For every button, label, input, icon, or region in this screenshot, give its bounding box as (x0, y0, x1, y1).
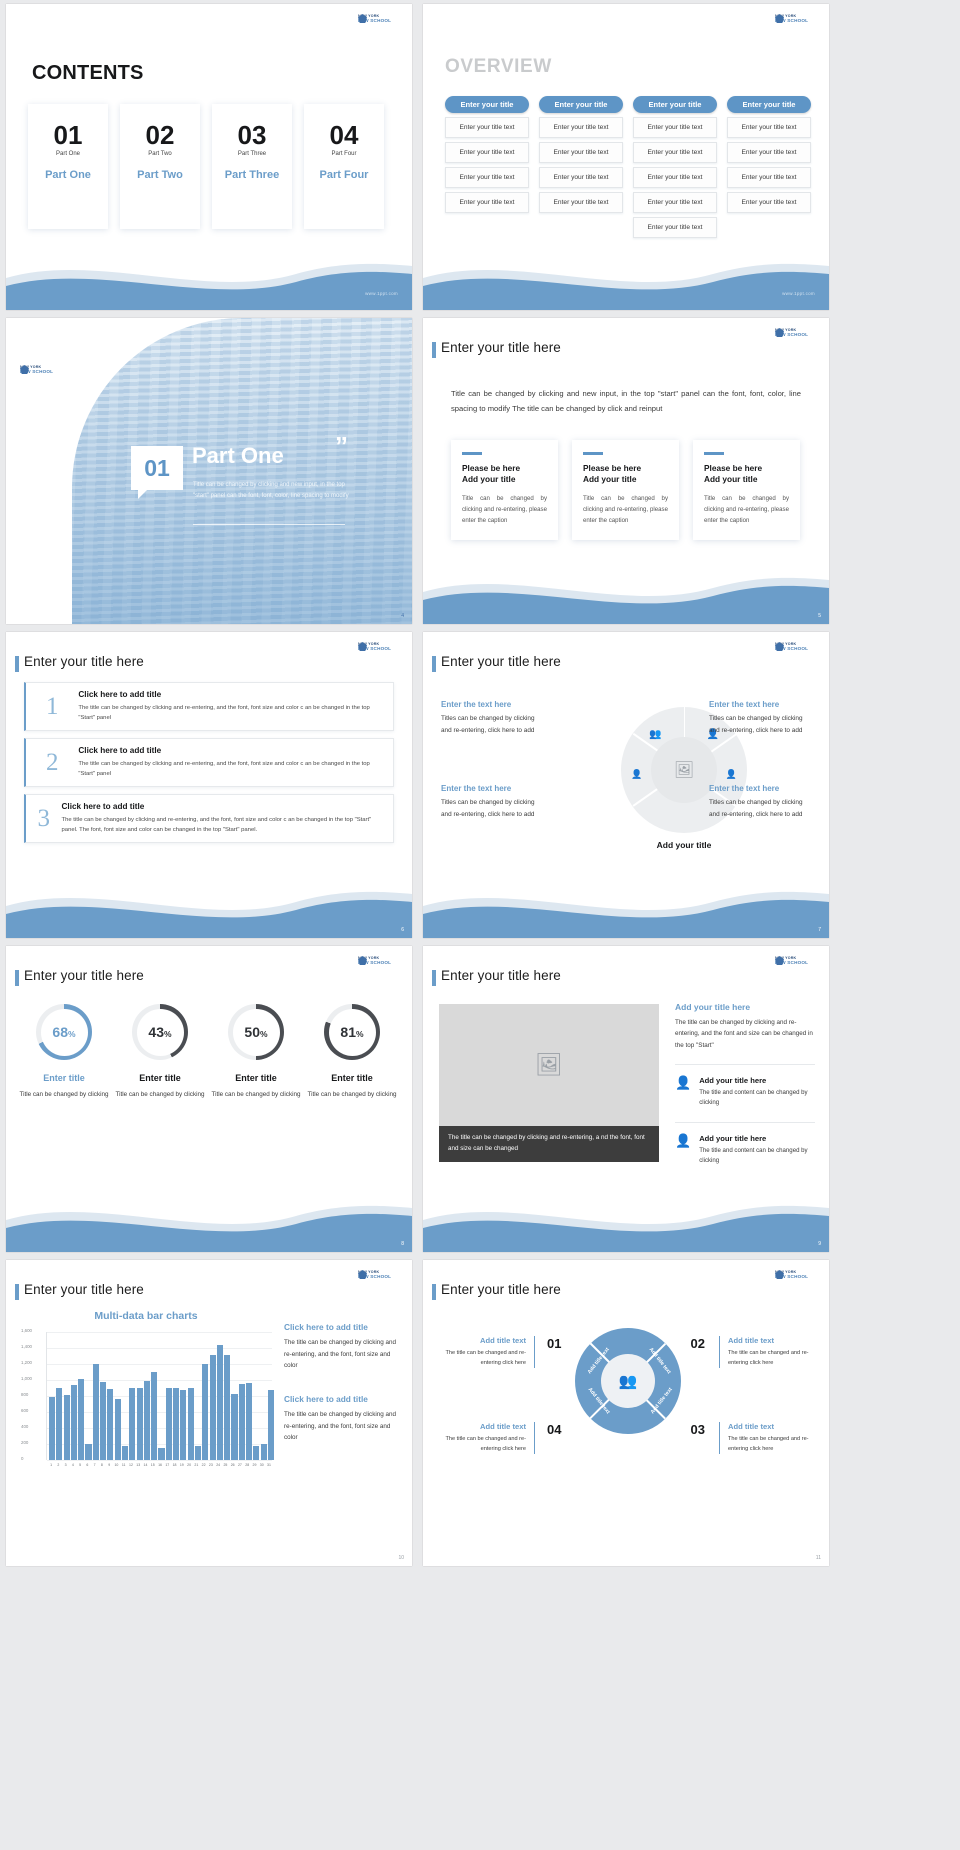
diagram-caption: Add your title (621, 840, 747, 850)
diagram-text-block: Enter the text here Titles can be change… (441, 784, 545, 821)
person-icon: 👤 (675, 1076, 691, 1109)
card-part: Part One (45, 169, 91, 181)
page-title: Enter your title here (441, 968, 561, 983)
page-title: Enter your title here (441, 1282, 561, 1297)
item-title: Click here to add title (62, 802, 383, 811)
person-icon: 👤 (675, 1134, 691, 1167)
chart-bar (217, 1345, 223, 1460)
cycle-number: 03 (691, 1422, 705, 1437)
side-list-item[interactable]: 👤 Add your title here The title and cont… (675, 1122, 815, 1167)
contents-cards: 01 Part One Part One 02 Part Two Part Tw… (28, 104, 384, 229)
side-heading: Click here to add title (284, 1322, 402, 1332)
brand-logo: NEW YORK LAW SCHOOL (358, 13, 400, 26)
cover-body: Title can be changed by clicking and new… (193, 480, 353, 501)
item-title: Click here to add title (78, 690, 383, 699)
cycle-text-block: Add title text The title can be changed … (719, 1422, 811, 1454)
cover-photo (72, 318, 412, 624)
chart-y-tick-label: 400 (21, 1424, 28, 1429)
cover-number-badge: 01 (131, 446, 183, 490)
card-subtitle: Part Four (331, 151, 356, 157)
donut-body: Title can be changed by clicking (112, 1090, 208, 1101)
info-card[interactable]: Please be here Add your title Title can … (693, 440, 800, 540)
page-title: Enter your title here (441, 340, 561, 355)
accent-bar (583, 452, 603, 455)
wave-decoration (423, 876, 829, 938)
overview-column: Enter your title Enter your title text E… (443, 96, 531, 238)
donut-title: Enter title (208, 1073, 304, 1083)
chart-bar (85, 1444, 91, 1460)
side-item-body: The title and content can be changed by … (699, 1088, 815, 1109)
bar-chart: Multi-data bar charts 02004006008001,000… (20, 1310, 272, 1488)
overview-cell[interactable]: Enter your title text (539, 192, 623, 213)
brand-logo: NEW YORK LAW SCHOOL (20, 364, 62, 377)
slide-contents[interactable]: NEW YORK LAW SCHOOL CONTENTS 01 Part One… (6, 4, 412, 310)
card-number: 04 (330, 122, 359, 148)
page-number: 6 (401, 927, 404, 933)
donut-value: 43% (148, 1025, 171, 1039)
block-heading: Enter the text here (441, 784, 545, 793)
lead-paragraph: Title can be changed by clicking and new… (451, 386, 801, 416)
block-heading: Add title text (728, 1336, 811, 1345)
side-body: The title can be changed by clicking and… (675, 1017, 815, 1051)
card-title-line2: Add your title (462, 474, 547, 485)
info-card[interactable]: Please be here Add your title Title can … (572, 440, 679, 540)
overview-cell[interactable]: Enter your title text (727, 117, 811, 138)
donut-chart: 81% (324, 1004, 380, 1060)
chart-bar (188, 1388, 194, 1460)
quote-mark-icon: ” (335, 436, 348, 457)
card-number: 03 (238, 122, 267, 148)
page-number: 5 (818, 613, 821, 619)
chart-x-tick-label: 18 (172, 1463, 178, 1467)
item-number: 2 (26, 750, 78, 775)
donut-chart: 68% (36, 1004, 92, 1060)
donut-item[interactable]: 50% Enter title Title can be changed by … (208, 1004, 304, 1101)
card-body: Title can be changed by clicking and re-… (704, 494, 789, 526)
side-item-body: The title and content can be changed by … (699, 1146, 815, 1167)
block-heading: Add title text (443, 1336, 526, 1345)
card-part: Part Two (137, 169, 183, 181)
logo-line2: LAW SCHOOL (775, 19, 817, 24)
block-heading: Add title text (443, 1422, 526, 1431)
chart-bar (122, 1446, 128, 1460)
block-body: Titles can be changed by clicking and re… (441, 797, 545, 821)
cycle-number: 04 (547, 1422, 561, 1437)
chart-bar (93, 1364, 99, 1460)
block-body: The title can be changed and re-entering… (728, 1349, 811, 1368)
card-body: Title can be changed by clicking and re-… (462, 494, 547, 526)
overview-cell[interactable]: Enter your title text (539, 167, 623, 188)
chart-x-tick-label: 22 (201, 1463, 207, 1467)
side-heading: Click here to add title (284, 1394, 402, 1404)
chart-x-tick-label: 10 (113, 1463, 119, 1467)
donut-item[interactable]: 68% Enter title Title can be changed by … (16, 1004, 112, 1101)
chart-bar (180, 1390, 186, 1460)
cycle-text-block: Add title text The title can be changed … (443, 1422, 535, 1454)
card-body: Title can be changed by clicking and re-… (583, 494, 668, 526)
chart-x-tick-label: 13 (135, 1463, 141, 1467)
slide-bar-chart[interactable]: NEW YORK LAW SCHOOL Enter your title her… (6, 1260, 412, 1566)
chart-bars (49, 1332, 274, 1460)
side-item-title: Add your title here (699, 1134, 815, 1143)
wave-decoration (423, 1190, 829, 1252)
overview-cell[interactable]: Enter your title text (633, 117, 717, 138)
slide-circle-diagram[interactable]: NEW YORK LAW SCHOOL Enter your title her… (423, 632, 829, 938)
chart-title: Multi-data bar charts (20, 1310, 272, 1322)
person-desk-icon: 👤 (726, 769, 737, 780)
people-group-icon: 👥 (619, 1372, 638, 1390)
wave-decoration (6, 248, 412, 310)
donut-item[interactable]: 43% Enter title Title can be changed by … (112, 1004, 208, 1101)
overview-column: Enter your title Enter your title text E… (537, 96, 625, 238)
cycle-center[interactable]: 👥 (601, 1354, 655, 1408)
chart-x-tick-label: 5 (77, 1463, 83, 1467)
overview-grid: Enter your title Enter your title text E… (443, 96, 813, 238)
page-number: 10 (398, 1555, 404, 1561)
chart-y-tick-label: 600 (21, 1408, 28, 1413)
block-body: The title can be changed and re-entering… (443, 1435, 526, 1454)
brand-logo: NEW YORK LAW SCHOOL (358, 955, 400, 968)
side-item-title: Add your title here (699, 1076, 815, 1085)
chart-bar (268, 1390, 274, 1460)
overview-cell[interactable]: Enter your title text (539, 117, 623, 138)
cycle-ring: Add title text Add title text Add title … (575, 1328, 681, 1434)
chart-x-tick-label: 1 (48, 1463, 54, 1467)
overview-cell[interactable]: Enter your title text (633, 142, 717, 163)
chart-x-tick-label: 24 (215, 1463, 221, 1467)
overview-pill[interactable]: Enter your title (539, 96, 623, 113)
slide-image-and-list[interactable]: NEW YORK LAW SCHOOL Enter your title her… (423, 946, 829, 1252)
accent-bar (462, 452, 482, 455)
wave-decoration (423, 248, 829, 310)
donut-item[interactable]: 81% Enter title Title can be changed by … (304, 1004, 400, 1101)
chart-x-tick-label: 29 (251, 1463, 257, 1467)
chart-bar (224, 1355, 230, 1460)
contents-card[interactable]: 04 Part Four Part Four (304, 104, 384, 229)
donut-value: 81% (340, 1025, 363, 1039)
logo-line2: LAW SCHOOL (358, 1275, 400, 1280)
side-body: The title can be changed by clicking and… (284, 1409, 402, 1444)
item-body: The title can be changed by clicking and… (78, 703, 383, 723)
item-number: 3 (26, 806, 62, 831)
overview-cell[interactable]: Enter your title text (445, 167, 529, 188)
donut-value: 68% (52, 1025, 75, 1039)
list-item[interactable]: 2 Click here to add title The title can … (24, 738, 394, 787)
chart-y-tick-label: 1,000 (21, 1376, 32, 1381)
chart-bar (158, 1448, 164, 1460)
overview-column: Enter your title Enter your title text E… (631, 96, 719, 238)
card-title-line1: Please be here (583, 463, 668, 474)
image-placeholder[interactable]: 🖼 (439, 1004, 659, 1126)
block-body: The title can be changed and re-entering… (728, 1435, 811, 1454)
chart-x-tick-label: 8 (99, 1463, 105, 1467)
block-heading: Enter the text here (709, 784, 813, 793)
page-number: 8 (401, 1241, 404, 1247)
overview-cell[interactable]: Enter your title text (727, 167, 811, 188)
chart-x-axis-labels: 1234567891011121314151617181920212223242… (48, 1460, 272, 1467)
donut-body: Title can be changed by clicking (208, 1090, 304, 1101)
card-title-line1: Please be here (704, 463, 789, 474)
card-title-line1: Please be here (462, 463, 547, 474)
card-title-line2: Add your title (583, 474, 668, 485)
chart-bar (144, 1381, 150, 1460)
chart-gridline: 0 (47, 1460, 272, 1461)
chart-bar (173, 1388, 179, 1460)
chart-x-tick-label: 3 (63, 1463, 69, 1467)
chart-bar (261, 1444, 267, 1460)
brand-logo: NEW YORK LAW SCHOOL (775, 1269, 817, 1282)
chart-y-tick-label: 1,600 (21, 1328, 32, 1333)
chart-x-tick-label: 26 (230, 1463, 236, 1467)
contents-heading: CONTENTS (32, 62, 144, 85)
chart-x-tick-label: 11 (121, 1463, 127, 1467)
logo-line2: LAW SCHOOL (775, 961, 817, 966)
page-title: Enter your title here (24, 968, 144, 983)
card-subtitle: Part Three (238, 151, 266, 157)
donut-body: Title can be changed by clicking (304, 1090, 400, 1101)
chart-x-tick-label: 14 (142, 1463, 148, 1467)
wave-decoration (423, 562, 829, 624)
diagram-text-block: Enter the text here Titles can be change… (709, 784, 813, 821)
slide-cycle-diagram[interactable]: NEW YORK LAW SCHOOL Enter your title her… (423, 1260, 829, 1566)
overview-cell[interactable]: Enter your title text (633, 192, 717, 213)
ring-center[interactable]: 🖼 (651, 737, 717, 803)
chart-bar (239, 1384, 245, 1460)
image-placeholder-icon: 🖼 (535, 1052, 563, 1078)
chart-x-tick-label: 23 (208, 1463, 214, 1467)
chart-bar (64, 1395, 70, 1460)
page-number: 11 (816, 1555, 821, 1561)
chart-bar (71, 1385, 77, 1460)
diagram-text-block: Enter the text here Titles can be change… (709, 700, 813, 737)
card-part: Part Four (320, 169, 369, 181)
logo-line2: LAW SCHOOL (358, 19, 400, 24)
list-item[interactable]: 3 Click here to add title The title can … (24, 794, 394, 843)
block-heading: Enter the text here (441, 700, 545, 709)
side-body: The title can be changed by clicking and… (284, 1337, 402, 1372)
list-container: 1 Click here to add title The title can … (24, 682, 394, 850)
overview-pill[interactable]: Enter your title (633, 96, 717, 113)
chart-bar (129, 1388, 135, 1460)
overview-pill[interactable]: Enter your title (445, 96, 529, 113)
donut-chart: 50% (228, 1004, 284, 1060)
logo-line2: LAW SCHOOL (358, 961, 400, 966)
chart-bar (137, 1388, 143, 1460)
slide-part-one-cover[interactable]: NEW YORK LAW SCHOOL 01 Part One ” Title … (6, 318, 412, 624)
chart-side-panel: Click here to add title The title can be… (284, 1322, 402, 1444)
chart-bar (210, 1355, 216, 1460)
item-title: Click here to add title (78, 746, 383, 755)
brand-logo: NEW YORK LAW SCHOOL (775, 641, 817, 654)
logo-line2: LAW SCHOOL (775, 647, 817, 652)
slide-overview[interactable]: NEW YORK LAW SCHOOL OVERVIEW Enter your … (423, 4, 829, 310)
contents-card[interactable]: 02 Part Two Part Two (120, 104, 200, 229)
logo-line2: LAW SCHOOL (358, 647, 400, 652)
chart-plot-area: 02004006008001,0001,2001,4001,600 (46, 1332, 272, 1460)
donut-value: 50% (244, 1025, 267, 1039)
chart-y-tick-label: 1,400 (21, 1344, 32, 1349)
page-title: Enter your title here (24, 1282, 144, 1297)
chart-bar (100, 1382, 106, 1460)
chart-bar (49, 1397, 55, 1460)
chart-x-tick-label: 6 (84, 1463, 90, 1467)
image-placeholder-icon: 🖼 (674, 760, 694, 780)
chart-bar (231, 1394, 237, 1460)
chart-bar (202, 1364, 208, 1460)
slide-three-cards[interactable]: NEW YORK LAW SCHOOL Enter your title her… (423, 318, 829, 624)
block-body: The title can be changed and re-entering… (443, 1349, 526, 1368)
brand-logo: NEW YORK LAW SCHOOL (775, 955, 817, 968)
overview-cell[interactable]: Enter your title text (445, 192, 529, 213)
block-heading: Add title text (728, 1422, 811, 1431)
block-body: Titles can be changed by clicking and re… (709, 713, 813, 737)
chart-y-tick-label: 200 (21, 1440, 28, 1445)
wave-decoration (6, 1190, 412, 1252)
page-number: 4 (401, 613, 404, 619)
chart-x-tick-label: 15 (150, 1463, 156, 1467)
chart-bar (78, 1379, 84, 1460)
donut-chart: 43% (132, 1004, 188, 1060)
slide-numbered-list[interactable]: NEW YORK LAW SCHOOL Enter your title her… (6, 632, 412, 938)
chart-bar (151, 1372, 157, 1460)
list-item[interactable]: 1 Click here to add title The title can … (24, 682, 394, 731)
chart-x-tick-label: 21 (193, 1463, 199, 1467)
chart-x-tick-label: 19 (179, 1463, 185, 1467)
card-subtitle: Part One (56, 151, 80, 157)
chart-x-tick-label: 2 (55, 1463, 61, 1467)
page-number: 9 (818, 1241, 821, 1247)
cover-divider (193, 524, 345, 525)
overview-cell[interactable]: Enter your title text (727, 142, 811, 163)
chart-bar (166, 1388, 172, 1460)
slide-percent-donuts[interactable]: NEW YORK LAW SCHOOL Enter your title her… (6, 946, 412, 1252)
footer-url: www.1ppt.com (365, 291, 398, 296)
overview-cell[interactable]: Enter your title text (445, 117, 529, 138)
chart-y-tick-label: 0 (21, 1456, 23, 1461)
brand-logo: NEW YORK LAW SCHOOL (775, 327, 817, 340)
page-title: Enter your title here (441, 654, 561, 669)
cover-title: Part One (192, 443, 284, 469)
card-part: Part Three (225, 169, 279, 181)
accent-bar (704, 452, 724, 455)
cycle-number: 01 (547, 1336, 561, 1351)
image-caption: The title can be changed by clicking and… (439, 1126, 659, 1162)
chart-x-tick-label: 31 (266, 1463, 272, 1467)
contents-card[interactable]: 03 Part Three Part Three (212, 104, 292, 229)
donut-title: Enter title (16, 1073, 112, 1083)
chart-x-tick-label: 12 (128, 1463, 134, 1467)
item-number: 1 (26, 694, 78, 719)
chart-x-tick-label: 16 (157, 1463, 163, 1467)
footer-url: www.1ppt.com (782, 291, 815, 296)
chart-x-tick-label: 20 (186, 1463, 192, 1467)
brand-logo: NEW YORK LAW SCHOOL (775, 13, 817, 26)
chart-y-tick-label: 1,200 (21, 1360, 32, 1365)
chart-bar (56, 1388, 62, 1460)
page-number: 7 (818, 927, 821, 933)
block-body: Titles can be changed by clicking and re… (709, 797, 813, 821)
chart-x-tick-label: 17 (164, 1463, 170, 1467)
person-circle-icon: 👤 (631, 769, 642, 780)
info-card[interactable]: Please be here Add your title Title can … (451, 440, 558, 540)
overview-pill[interactable]: Enter your title (727, 96, 811, 113)
chart-x-tick-label: 7 (92, 1463, 98, 1467)
block-heading: Enter the text here (709, 700, 813, 709)
overview-cell[interactable]: Enter your title text (539, 142, 623, 163)
overview-cell[interactable]: Enter your title text (633, 167, 717, 188)
card-subtitle: Part Two (148, 151, 172, 157)
page-title: Enter your title here (24, 654, 144, 669)
donut-title: Enter title (304, 1073, 400, 1083)
logo-line2: LAW SCHOOL (20, 370, 62, 375)
logo-line2: LAW SCHOOL (775, 1275, 817, 1280)
card-number: 02 (146, 122, 175, 148)
brand-logo: NEW YORK LAW SCHOOL (358, 641, 400, 654)
overview-column: Enter your title Enter your title text E… (725, 96, 813, 238)
donut-group: 68% Enter title Title can be changed by … (16, 1004, 400, 1101)
side-panel: Add your title here The title can be cha… (675, 1002, 815, 1166)
card-number: 01 (54, 122, 83, 148)
side-heading: Add your title here (675, 1002, 815, 1012)
slide-deck: NEW YORK LAW SCHOOL CONTENTS 01 Part One… (0, 0, 960, 1570)
overview-cell[interactable]: Enter your title text (445, 142, 529, 163)
donut-title: Enter title (112, 1073, 208, 1083)
diagram-text-block: Enter the text here Titles can be change… (441, 700, 545, 737)
contents-card[interactable]: 01 Part One Part One (28, 104, 108, 229)
item-body: The title can be changed by clicking and… (62, 815, 383, 835)
cycle-text-block: Add title text The title can be changed … (719, 1336, 811, 1368)
cycle-number: 02 (691, 1336, 705, 1351)
chart-x-tick-label: 25 (222, 1463, 228, 1467)
chart-x-tick-label: 9 (106, 1463, 112, 1467)
chart-bar (253, 1446, 259, 1460)
chart-x-tick-label: 30 (259, 1463, 265, 1467)
overview-cell[interactable]: Enter your title text (727, 192, 811, 213)
chart-bar (107, 1389, 113, 1460)
logo-line2: LAW SCHOOL (775, 333, 817, 338)
chart-x-tick-label: 4 (70, 1463, 76, 1467)
card-title-line2: Add your title (704, 474, 789, 485)
chart-bar (246, 1383, 252, 1460)
chart-bar (195, 1446, 201, 1460)
chart-y-tick-label: 800 (21, 1392, 28, 1397)
overview-cell[interactable]: Enter your title text (633, 217, 717, 238)
overview-heading: OVERVIEW (445, 56, 552, 78)
chart-x-tick-label: 27 (237, 1463, 243, 1467)
chart-bar (115, 1399, 121, 1460)
wave-decoration (6, 876, 412, 938)
donut-body: Title can be changed by clicking (16, 1090, 112, 1101)
side-list-item[interactable]: 👤 Add your title here The title and cont… (675, 1064, 815, 1109)
item-body: The title can be changed by clicking and… (78, 759, 383, 779)
brand-logo: NEW YORK LAW SCHOOL (358, 1269, 400, 1282)
people-group-icon: 👥 (649, 729, 661, 740)
cycle-text-block: Add title text The title can be changed … (443, 1336, 535, 1368)
block-body: Titles can be changed by clicking and re… (441, 713, 545, 737)
card-group: Please be here Add your title Title can … (451, 440, 800, 540)
chart-x-tick-label: 28 (244, 1463, 250, 1467)
